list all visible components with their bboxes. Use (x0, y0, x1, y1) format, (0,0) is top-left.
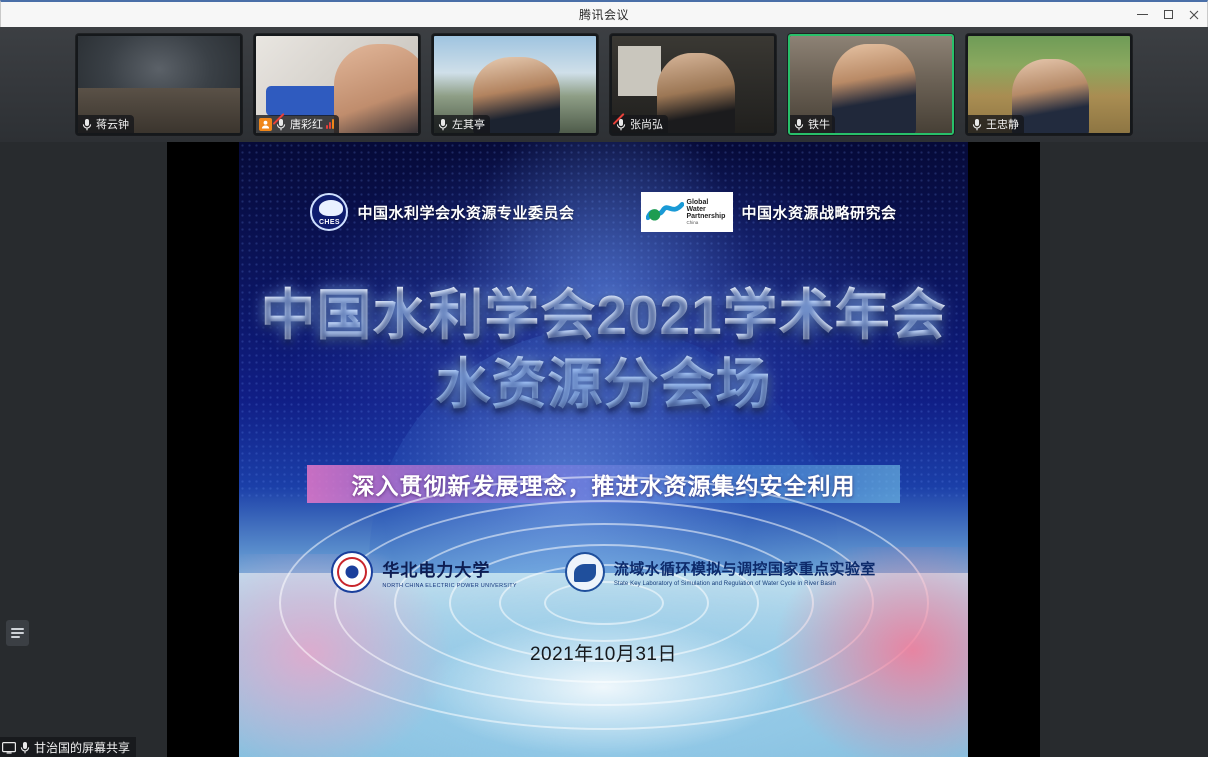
state-key-lab-block: 流域水循环模拟与调控国家重点实验室 State Key Laboratory o… (565, 552, 876, 592)
microphone-icon (793, 118, 805, 131)
ncepu-name-en: NORTH CHINA ELECTRIC POWER UNIVERSITY (382, 583, 516, 589)
microphone-muted-icon (615, 118, 627, 131)
screen-share-icon (2, 741, 16, 753)
app-title: 腾讯会议 (579, 6, 629, 23)
participant-name: 左其亭 (452, 116, 485, 132)
ncepu-logo-icon (331, 551, 373, 593)
list-icon (11, 626, 24, 640)
participant-tile[interactable]: 张尚弘 (610, 34, 776, 135)
gwp-line1: Global Water (687, 199, 728, 214)
participant-info-bar: 张尚弘 (612, 115, 668, 133)
screen-share-label: 甘治国的屏幕共享 (0, 737, 136, 757)
participant-tile[interactable]: 左其亭 (432, 34, 598, 135)
shared-screen-canvas[interactable]: CHES 中国水利学会水资源专业委员会 Global Water (167, 142, 1040, 757)
ncepu-block: 华北电力大学 NORTH CHINA ELECTRIC POWER UNIVER… (331, 551, 516, 593)
tencent-meeting-window: 腾讯会议 蒋云钟 (0, 0, 1208, 757)
participant-name: 蒋云钟 (96, 116, 129, 132)
minimize-icon (1137, 14, 1148, 15)
title-bar: 腾讯会议 (0, 0, 1208, 27)
minimize-button[interactable] (1129, 2, 1155, 27)
participant-name: 张尚弘 (630, 116, 663, 132)
restore-icon (1164, 10, 1173, 19)
close-button[interactable] (1181, 2, 1207, 27)
microphone-icon (19, 741, 31, 754)
participant-tile[interactable]: 王忠静 (966, 34, 1132, 135)
participant-info-bar: 蒋云钟 (78, 115, 134, 133)
presentation-slide: CHES 中国水利学会水资源专业委员会 Global Water (239, 142, 968, 757)
slide-ripple-rings (274, 438, 934, 757)
close-icon (1189, 10, 1199, 20)
slide-title-line1: 中国水利学会2021学术年会 (260, 284, 946, 346)
slide-footer-logos: 华北电力大学 NORTH CHINA ELECTRIC POWER UNIVER… (239, 551, 968, 593)
gwp-line3: China (687, 221, 728, 226)
window-controls (1129, 2, 1207, 27)
participant-info-bar: 王忠静 (968, 115, 1024, 133)
state-key-lab-logo-icon (565, 552, 605, 592)
participant-info-bar: 唐彩红 (256, 115, 339, 133)
participant-tile[interactable]: 唐彩红 (254, 34, 420, 135)
microphone-icon (971, 118, 983, 131)
slide-header-logos: CHES 中国水利学会水资源专业委员会 Global Water (239, 192, 968, 232)
participant-name: 唐彩红 (290, 116, 323, 132)
participant-info-bar: 铁牛 (790, 115, 835, 133)
participant-filmstrip: 蒋云钟 唐彩红 左其亭 (0, 27, 1208, 142)
restore-button[interactable] (1155, 2, 1181, 27)
ches-org-block: CHES 中国水利学会水资源专业委员会 (310, 193, 574, 231)
microphone-icon (437, 118, 449, 131)
participant-name: 王忠静 (986, 116, 1019, 132)
participant-name: 铁牛 (808, 116, 830, 132)
slide-main-title: 中国水利学会2021学术年会 水资源分会场 (239, 284, 968, 417)
ches-org-name: 中国水利学会水资源专业委员会 (357, 202, 574, 223)
state-key-lab-text: 流域水循环模拟与调控国家重点实验室 State Key Laboratory o… (614, 558, 876, 587)
microphone-icon (81, 118, 93, 131)
participant-list-toggle-button[interactable] (6, 620, 29, 646)
gwp-org-name: 中国水资源战略研究会 (742, 202, 897, 223)
lab-name-en: State Key Laboratory of Simulation and R… (614, 581, 876, 587)
signal-strength-icon (326, 119, 334, 129)
slide-title-line2: 水资源分会场 (239, 353, 968, 416)
participant-tile-active-speaker[interactable]: 铁牛 (788, 34, 954, 135)
gwp-wave-icon (646, 198, 684, 226)
ncepu-name-cn: 华北电力大学 (382, 556, 516, 581)
shared-screen-stage: CHES 中国水利学会水资源专业委员会 Global Water (0, 142, 1208, 757)
gwp-logo-text: Global Water Partnership China (687, 199, 728, 226)
slide-date: 2021年10月31日 (239, 639, 968, 666)
participant-info-bar: 左其亭 (434, 115, 490, 133)
gwp-org-block: Global Water Partnership China 中国水资源战略研究… (641, 192, 897, 232)
microphone-muted-icon (275, 118, 287, 131)
gwp-logo-icon: Global Water Partnership China (641, 192, 733, 232)
lab-name-cn: 流域水循环模拟与调控国家重点实验室 (614, 558, 876, 579)
ches-logo-text: CHES (312, 219, 346, 226)
screen-share-owner: 甘治国的屏幕共享 (34, 739, 130, 756)
participant-tile[interactable]: 蒋云钟 (76, 34, 242, 135)
ches-logo-icon: CHES (310, 193, 348, 231)
ncepu-text: 华北电力大学 NORTH CHINA ELECTRIC POWER UNIVER… (382, 556, 516, 589)
host-badge-icon (259, 118, 272, 131)
